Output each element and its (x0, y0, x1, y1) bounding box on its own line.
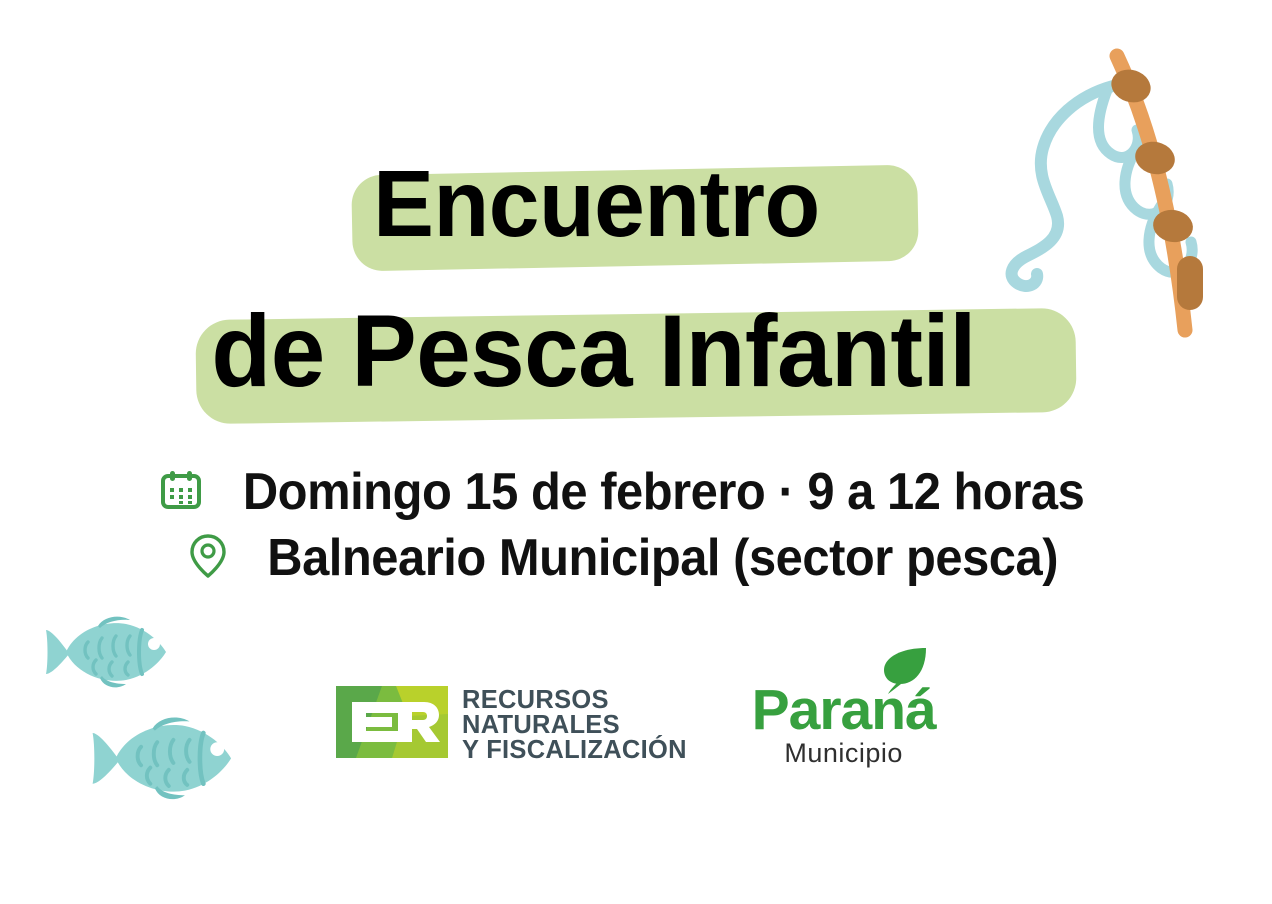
title-line-1-text: Encuentro (352, 150, 841, 258)
poster-title: Encuentro de Pesca Infantil (0, 150, 1272, 420)
parana-subtitle: Municipio (752, 738, 936, 768)
title-line-2-text: de Pesca Infantil (196, 292, 991, 410)
calendar-icon (160, 469, 202, 516)
event-details: Domingo 15 de febrero · 9 a 12 horas Bal… (0, 462, 1272, 594)
title-line-2: de Pesca Infantil (196, 292, 1024, 410)
location-pin-icon (188, 532, 228, 585)
logo-entre-rios: RECURSOS NATURALES Y FISCALIZACIÓN (336, 686, 691, 763)
detail-row-place: Balneario Municipal (sector pesca) (0, 528, 1272, 588)
logo-strip: RECURSOS NATURALES Y FISCALIZACIÓN Paran… (0, 680, 1272, 768)
er-wordmark-line-3: Y FISCALIZACIÓN (462, 737, 687, 762)
detail-place-text: Balneario Municipal (sector pesca) (268, 528, 1059, 588)
er-wordmark: RECURSOS NATURALES Y FISCALIZACIÓN (462, 687, 687, 762)
logo-parana-municipio: Paraná Municipio (752, 680, 936, 768)
detail-date-text: Domingo 15 de febrero · 9 a 12 horas (243, 462, 1084, 522)
leaf-icon (876, 642, 930, 699)
er-monogram-icon (336, 686, 448, 763)
poster-canvas: Encuentro de Pesca Infantil (0, 0, 1272, 904)
title-line-1: Encuentro (352, 150, 861, 258)
detail-row-date: Domingo 15 de febrero · 9 a 12 horas (0, 462, 1272, 522)
